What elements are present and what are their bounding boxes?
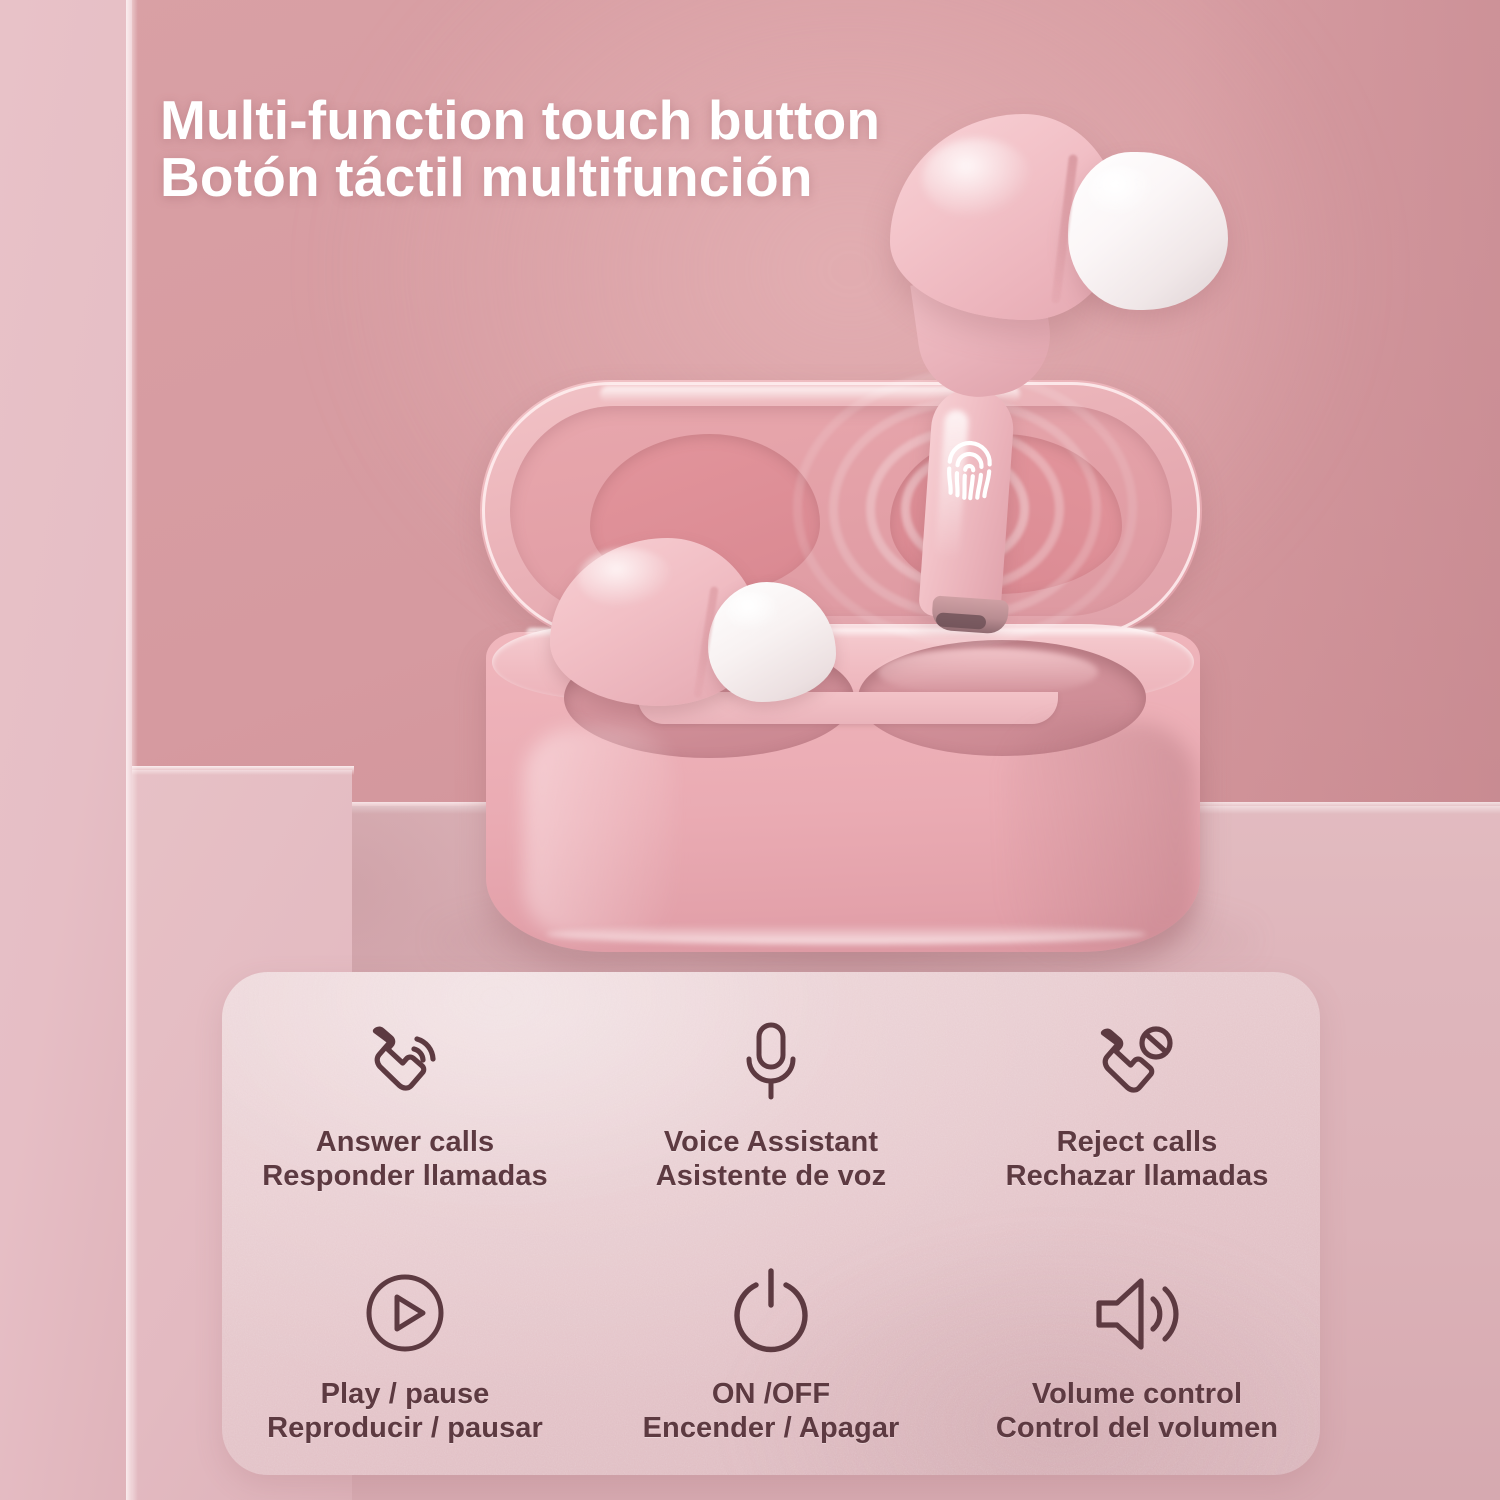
floating-earbud-highlight <box>922 138 1032 218</box>
feature-item-reject-calls[interactable]: Reject calls Rechazar llamadas <box>954 972 1320 1224</box>
fingerprint-icon <box>929 428 1009 519</box>
feature-item-voice-assistant[interactable]: Voice Assistant Asistente de voz <box>588 972 954 1224</box>
case-body-front-shade <box>1006 722 1196 952</box>
floating-earbud <box>880 108 1240 408</box>
feature-grid: Answer calls Responder llamadas Voice As… <box>222 972 1320 1475</box>
feature-caption-es: Responder llamadas <box>262 1159 547 1193</box>
feature-caption-en: Voice Assistant <box>656 1125 886 1159</box>
feature-caption: Answer calls Responder llamadas <box>262 1125 547 1193</box>
feature-caption: Play / pause Reproducir / pausar <box>267 1377 543 1445</box>
feature-item-on-off[interactable]: ON /OFF Encender / Apagar <box>588 1224 954 1476</box>
case-body-bottom-highlight <box>546 924 1146 944</box>
phone-reject-icon <box>1092 1003 1182 1107</box>
feature-caption-es: Asistente de voz <box>656 1159 886 1193</box>
earbud-in-case-tip-highlight <box>726 592 782 632</box>
feature-caption-en: ON /OFF <box>643 1377 900 1411</box>
earbud-stem-touch-sensor[interactable] <box>870 370 1060 670</box>
feature-caption: Volume control Control del volumen <box>996 1377 1278 1445</box>
backdrop-left-panel-edge <box>126 0 138 1500</box>
backdrop-mid-block-top <box>122 766 354 775</box>
feature-caption: ON /OFF Encender / Apagar <box>643 1377 900 1445</box>
earbud-in-case-highlight <box>578 548 674 608</box>
microphone-icon <box>734 1003 808 1107</box>
feature-caption-en: Play / pause <box>267 1377 543 1411</box>
power-icon <box>730 1253 812 1357</box>
case-body-front-highlight <box>524 728 674 938</box>
feature-caption: Voice Assistant Asistente de voz <box>656 1125 886 1193</box>
feature-caption-es: Rechazar llamadas <box>1006 1159 1269 1193</box>
feature-item-play-pause[interactable]: Play / pause Reproducir / pausar <box>222 1224 588 1476</box>
feature-caption-es: Control del volumen <box>996 1411 1278 1445</box>
feature-caption-en: Reject calls <box>1006 1125 1269 1159</box>
feature-item-volume-control[interactable]: Volume control Control del volumen <box>954 1224 1320 1476</box>
feature-panel: Answer calls Responder llamadas Voice As… <box>222 972 1320 1475</box>
product-marketing-image: Multi-function touch button Botón táctil… <box>0 0 1500 1500</box>
floating-earbud-tip-highlight <box>1088 166 1156 218</box>
charging-case <box>470 380 1230 970</box>
backdrop-left-panel <box>0 0 132 1500</box>
phone-answer-icon <box>362 1003 448 1107</box>
feature-caption: Reject calls Rechazar llamadas <box>1006 1125 1269 1193</box>
feature-caption-en: Answer calls <box>262 1125 547 1159</box>
feature-caption-en: Volume control <box>996 1377 1278 1411</box>
volume-icon <box>1089 1253 1185 1357</box>
feature-item-answer-calls[interactable]: Answer calls Responder llamadas <box>222 972 588 1224</box>
feature-caption-es: Reproducir / pausar <box>267 1411 543 1445</box>
feature-caption-es: Encender / Apagar <box>643 1411 900 1445</box>
play-pause-icon <box>361 1253 449 1357</box>
